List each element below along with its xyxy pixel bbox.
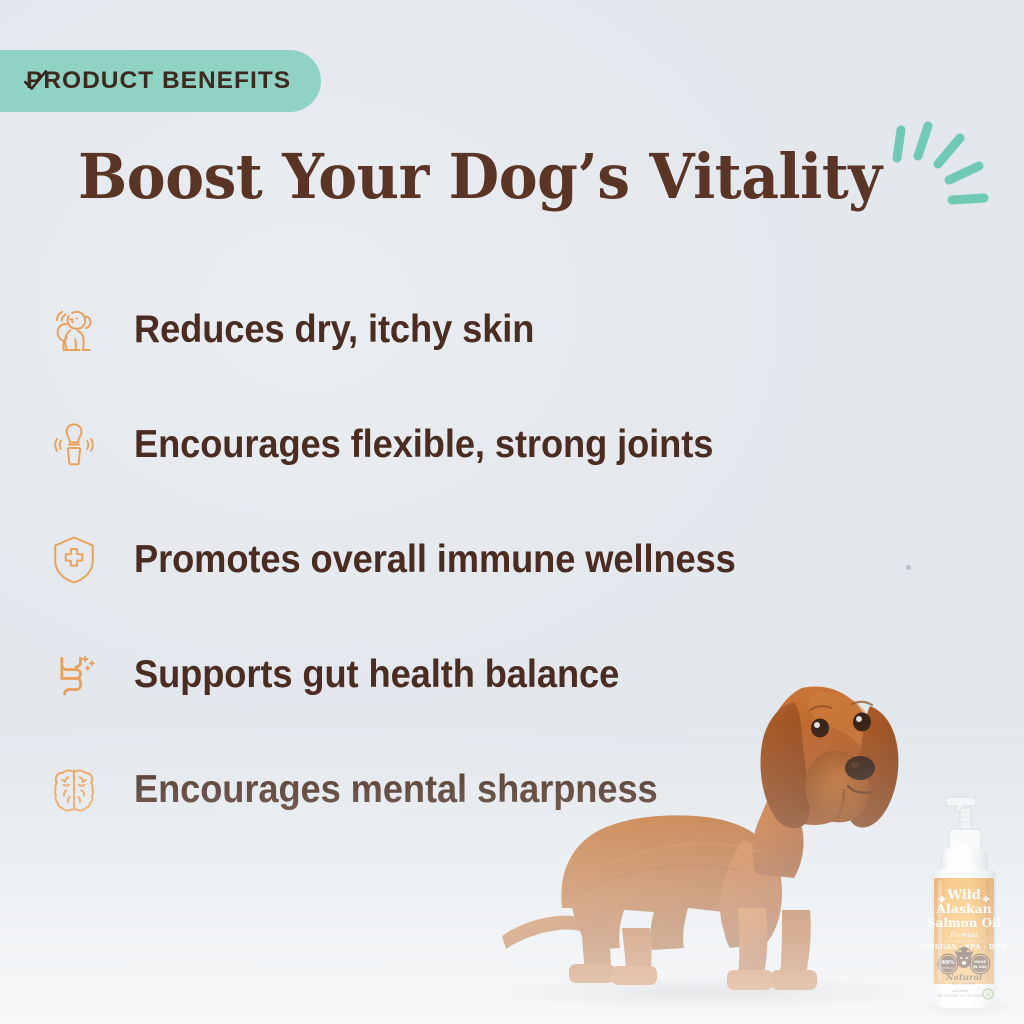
intestines-sparkle-icon (42, 643, 106, 707)
page-title: Boost Your Dog’s Vitality (78, 146, 882, 208)
benefit-item-joints: Encourages flexible, strong joints (0, 387, 900, 502)
infographic-canvas: PRODUCT BENEFITS Boost Your Dog’s Vitali… (0, 0, 1024, 1024)
badge-label: PRODUCT BENEFITS (26, 67, 291, 95)
sunburst-rays-icon (880, 118, 1000, 228)
background-speck (906, 565, 911, 570)
benefit-label: Promotes overall immune wellness (134, 538, 736, 582)
dog-scratching-icon (42, 298, 106, 362)
check-icon (22, 68, 48, 94)
bottom-fade (0, 724, 1024, 1024)
shield-cross-icon (42, 528, 106, 592)
product-benefits-badge: PRODUCT BENEFITS (0, 50, 321, 112)
benefit-item-immune: Promotes overall immune wellness (0, 502, 900, 617)
benefit-item-skin: Reduces dry, itchy skin (0, 272, 900, 387)
benefit-label: Reduces dry, itchy skin (134, 308, 534, 352)
benefit-label: Encourages flexible, strong joints (134, 423, 713, 467)
joint-bone-icon (42, 413, 106, 477)
